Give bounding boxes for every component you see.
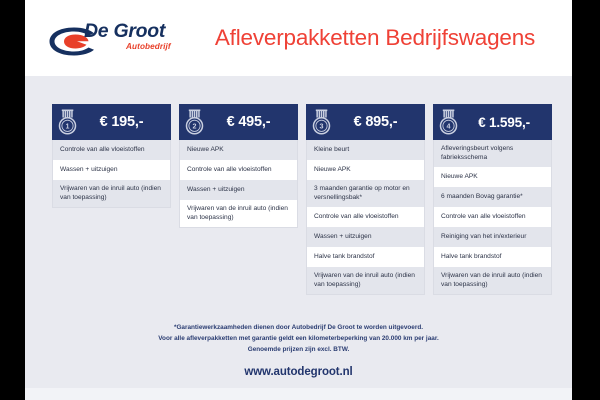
- list-item: Nieuwe APK: [434, 167, 551, 187]
- medal-rank-2: 2: [193, 121, 197, 130]
- package-cards-container: 1 € 195,- Controle van alle vloeistoffen…: [25, 76, 572, 320]
- list-item: Kleine beurt: [307, 140, 424, 160]
- package-card-2[interactable]: 2 € 495,- Nieuwe APK Controle van alle v…: [179, 104, 298, 228]
- package-header-2: 2 € 495,-: [179, 104, 298, 140]
- package-card-1[interactable]: 1 € 195,- Controle van alle vloeistoffen…: [52, 104, 171, 208]
- package-header-1: 1 € 195,-: [52, 104, 171, 140]
- medal-rank-1: 1: [66, 121, 70, 130]
- list-item: Controle van alle vloeistoffen: [180, 160, 297, 180]
- list-item: Vrijwaren van de inruil auto (indien van…: [307, 267, 424, 294]
- list-item: Vrijwaren van de inruil auto (indien van…: [180, 200, 297, 227]
- package-items-2: Nieuwe APK Controle van alle vloeistoffe…: [179, 140, 298, 228]
- medal-icon: 4: [439, 109, 458, 135]
- package-header-4: 4 € 1.595,-: [433, 104, 552, 140]
- package-items-1: Controle van alle vloeistoffen Wassen + …: [52, 140, 171, 208]
- package-price-4: € 1.595,-: [458, 115, 552, 130]
- list-item: 6 maanden Bovag garantie*: [434, 187, 551, 207]
- package-price-3: € 895,-: [331, 114, 425, 130]
- list-item: Reiniging van het in/exterieur: [434, 227, 551, 247]
- list-item: Wassen + uitzuigen: [307, 227, 424, 247]
- list-item: Controle van alle vloeistoffen: [307, 207, 424, 227]
- medal-rank-4: 4: [447, 121, 451, 130]
- company-logo: De Groot Autobedrijf: [47, 17, 197, 61]
- disclaimer-line-3: Genoemde prijzen zijn excl. BTW.: [25, 344, 572, 355]
- medal-icon: 2: [185, 109, 204, 135]
- disclaimer-line-2: Voor alle afleverpakketten met garantie …: [25, 333, 572, 344]
- package-price-2: € 495,-: [204, 114, 298, 130]
- list-item: Halve tank brandstof: [307, 247, 424, 267]
- logo-tagline: Autobedrijf: [126, 42, 171, 51]
- list-item: 3 maanden garantie op motor en versnelli…: [307, 180, 424, 207]
- brochure-sheet: De Groot Autobedrijf Afleverpakketten Be…: [25, 0, 572, 400]
- list-item: Nieuwe APK: [180, 140, 297, 160]
- list-item: Controle van alle vloeistoffen: [53, 140, 170, 160]
- disclaimer-text: *Garantiewerkzaamheden dienen door Autob…: [25, 322, 572, 356]
- footer-strip: [25, 388, 572, 400]
- list-item: Halve tank brandstof: [434, 247, 551, 267]
- package-header-3: 3 € 895,-: [306, 104, 425, 140]
- list-item: Wassen + uitzuigen: [53, 160, 170, 180]
- list-item: Vrijwaren van de inruil auto (indien van…: [53, 180, 170, 207]
- package-price-1: € 195,-: [77, 114, 171, 130]
- package-items-4: Afleveringsbeurt volgens fabrieksschema …: [433, 140, 552, 295]
- list-item: Wassen + uitzuigen: [180, 180, 297, 200]
- list-item: Afleveringsbeurt volgens fabrieksschema: [434, 140, 551, 167]
- medal-rank-3: 3: [320, 121, 324, 130]
- package-card-3[interactable]: 3 € 895,- Kleine beurt Nieuwe APK 3 maan…: [306, 104, 425, 295]
- list-item: Nieuwe APK: [307, 160, 424, 180]
- package-items-3: Kleine beurt Nieuwe APK 3 maanden garant…: [306, 140, 425, 295]
- package-card-4[interactable]: 4 € 1.595,- Afleveringsbeurt volgens fab…: [433, 104, 552, 295]
- medal-icon: 1: [58, 109, 77, 135]
- list-item: Vrijwaren van de inruil auto (indien van…: [434, 267, 551, 294]
- page-title: Afleverpakketten Bedrijfswagens: [185, 25, 565, 51]
- logo-company-name: De Groot: [84, 20, 165, 43]
- list-item: Controle van alle vloeistoffen: [434, 207, 551, 227]
- disclaimer-line-1: *Garantiewerkzaamheden dienen door Autob…: [25, 322, 572, 333]
- medal-icon: 3: [312, 109, 331, 135]
- website-link[interactable]: www.autodegroot.nl: [25, 366, 572, 378]
- header-bar: De Groot Autobedrijf Afleverpakketten Be…: [25, 0, 572, 76]
- page-stage: De Groot Autobedrijf Afleverpakketten Be…: [0, 0, 600, 400]
